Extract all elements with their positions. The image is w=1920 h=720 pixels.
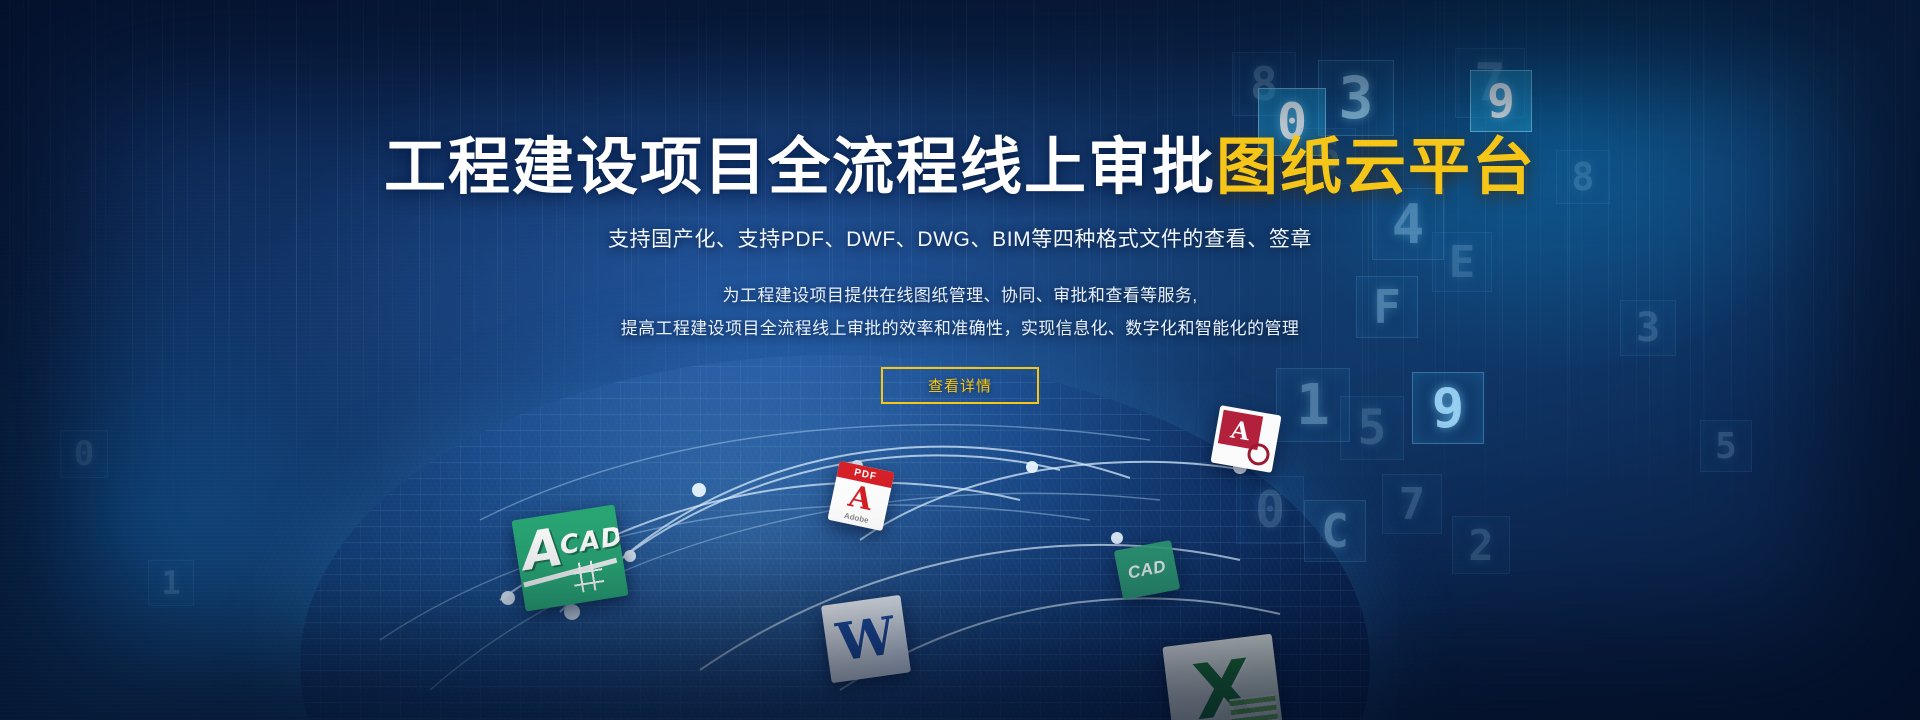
description-line-2: 提高工程建设项目全流程线上审批的效率和准确性，实现信息化、数字化和智能化的管理 — [0, 312, 1920, 345]
excel-file-icon: X — [1162, 634, 1283, 720]
cta-container: 查看详情 — [0, 345, 1920, 404]
access-file-icon: A — [1210, 405, 1281, 473]
page-title: 工程建设项目全流程线上审批图纸云平台 — [0, 0, 1920, 200]
view-details-button[interactable]: 查看详情 — [881, 367, 1039, 404]
description-line-1: 为工程建设项目提供在线图纸管理、协同、审批和查看等服务, — [0, 253, 1920, 312]
page-title-highlight: 图纸云平台 — [1216, 133, 1536, 202]
cad-small-file-icon: CAD — [1114, 540, 1180, 600]
pdf-glyph: A — [846, 482, 875, 516]
cad-letter-a: A — [519, 521, 567, 579]
page-title-white: 工程建设项目全流程线上审批 — [384, 133, 1216, 202]
cad-file-icon: A CAD — [511, 504, 628, 611]
word-glyph: W — [833, 605, 899, 674]
excel-rows-decor — [1229, 694, 1279, 720]
cad-hash-mark — [571, 559, 605, 593]
pdf-file-icon: PDF A Adobe — [827, 461, 894, 531]
hero-banner: 8370964EF1590C7283501 — [0, 0, 1920, 720]
subtitle: 支持国产化、支持PDF、DWF、DWG、BIM等四种格式文件的查看、签章 — [0, 200, 1920, 253]
cad-label-text: CAD — [558, 522, 626, 562]
word-file-icon: W — [821, 595, 911, 683]
hero-content: 工程建设项目全流程线上审批图纸云平台 支持国产化、支持PDF、DWF、DWG、B… — [0, 0, 1920, 404]
cad-small-label: CAD — [1126, 557, 1167, 584]
